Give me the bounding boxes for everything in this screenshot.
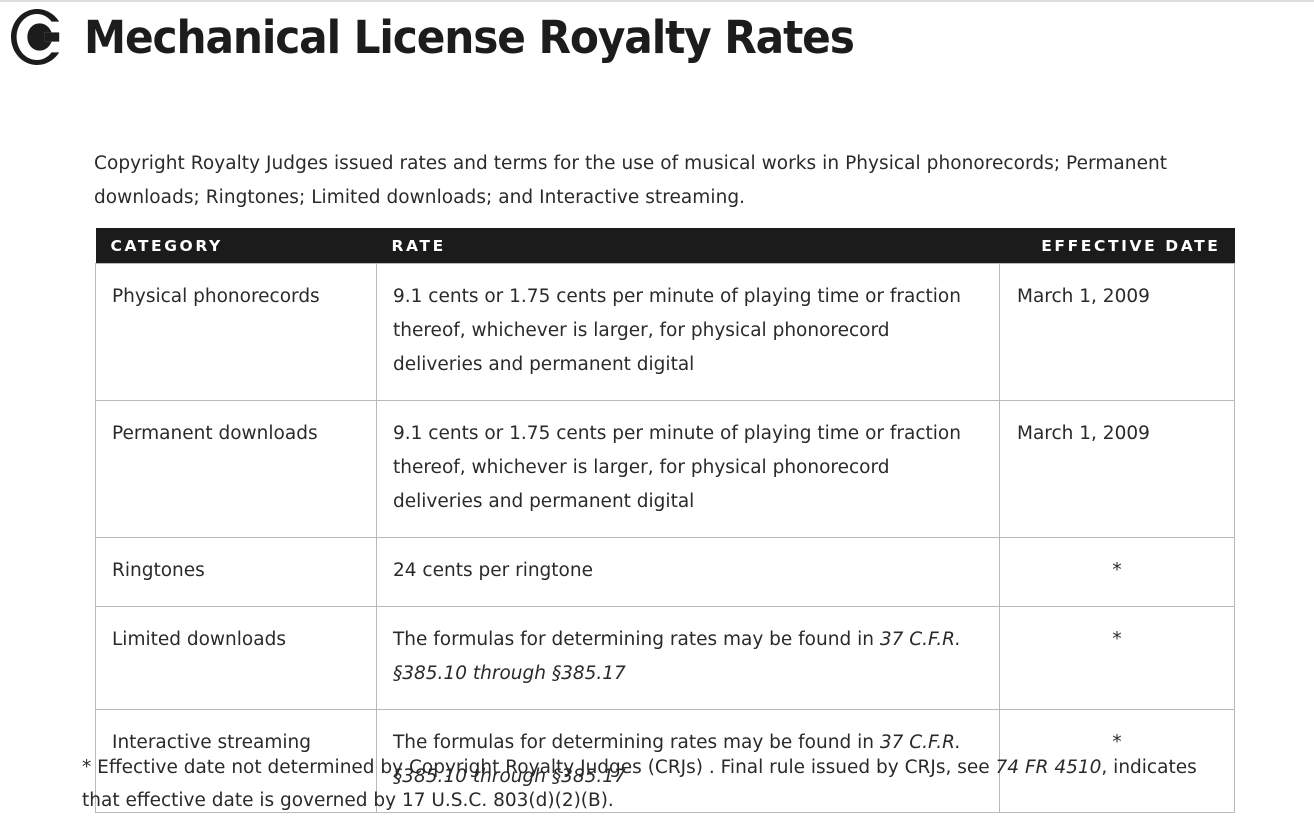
table-body: Physical phonorecords9.1 cents or 1.75 c… (96, 264, 1235, 813)
cell-effective-date: March 1, 2009 (1000, 264, 1235, 401)
masthead: Mechanical License Royalty Rates (6, 6, 903, 68)
page-top-rule (0, 0, 1314, 2)
intro-paragraph: Copyright Royalty Judges issued rates an… (94, 147, 1214, 215)
cell-category: Ringtones (96, 538, 377, 607)
footnote: * Effective date not determined by Copyr… (82, 751, 1227, 817)
cell-category: Permanent downloads (96, 401, 377, 538)
column-header-rate: RATE (377, 228, 1000, 264)
cell-rate-text: 24 cents per ringtone (393, 560, 593, 581)
column-header-effective-date: EFFECTIVE DATE (1000, 228, 1235, 264)
cell-rate: 9.1 cents or 1.75 cents per minute of pl… (377, 264, 1000, 401)
page-title: Mechanical License Royalty Rates (84, 15, 854, 60)
cell-rate-text: 9.1 cents or 1.75 cents per minute of pl… (393, 423, 961, 512)
cell-category: Physical phonorecords (96, 264, 377, 401)
cell-category: Limited downloads (96, 607, 377, 710)
cell-rate: 24 cents per ringtone (377, 538, 1000, 607)
cell-rate-text: The formulas for determining rates may b… (393, 629, 880, 650)
cell-rate: 9.1 cents or 1.75 cents per minute of pl… (377, 401, 1000, 538)
table-row: Limited downloadsThe formulas for determ… (96, 607, 1235, 710)
footnote-text-part1: * Effective date not determined by Copyr… (82, 757, 996, 778)
table-header: CATEGORY RATE EFFECTIVE DATE (96, 228, 1235, 264)
table-row: Permanent downloads9.1 cents or 1.75 cen… (96, 401, 1235, 538)
cell-rate: The formulas for determining rates may b… (377, 607, 1000, 710)
footnote-citation: 74 FR 4510 (996, 757, 1102, 778)
cell-rate-text: 9.1 cents or 1.75 cents per minute of pl… (393, 286, 961, 375)
cell-effective-date-asterisk: * (1000, 607, 1235, 710)
table-header-row: CATEGORY RATE EFFECTIVE DATE (96, 228, 1235, 264)
cell-effective-date-asterisk: * (1000, 538, 1235, 607)
table-row: Physical phonorecords9.1 cents or 1.75 c… (96, 264, 1235, 401)
table-row: Ringtones24 cents per ringtone* (96, 538, 1235, 607)
document-page: Mechanical License Royalty Rates Copyrig… (0, 0, 1314, 815)
cell-effective-date: March 1, 2009 (1000, 401, 1235, 538)
column-header-category: CATEGORY (96, 228, 377, 264)
copyright-c-logo-icon (6, 6, 68, 68)
mechanical-license-rates-table: CATEGORY RATE EFFECTIVE DATE Physical ph… (95, 228, 1235, 813)
